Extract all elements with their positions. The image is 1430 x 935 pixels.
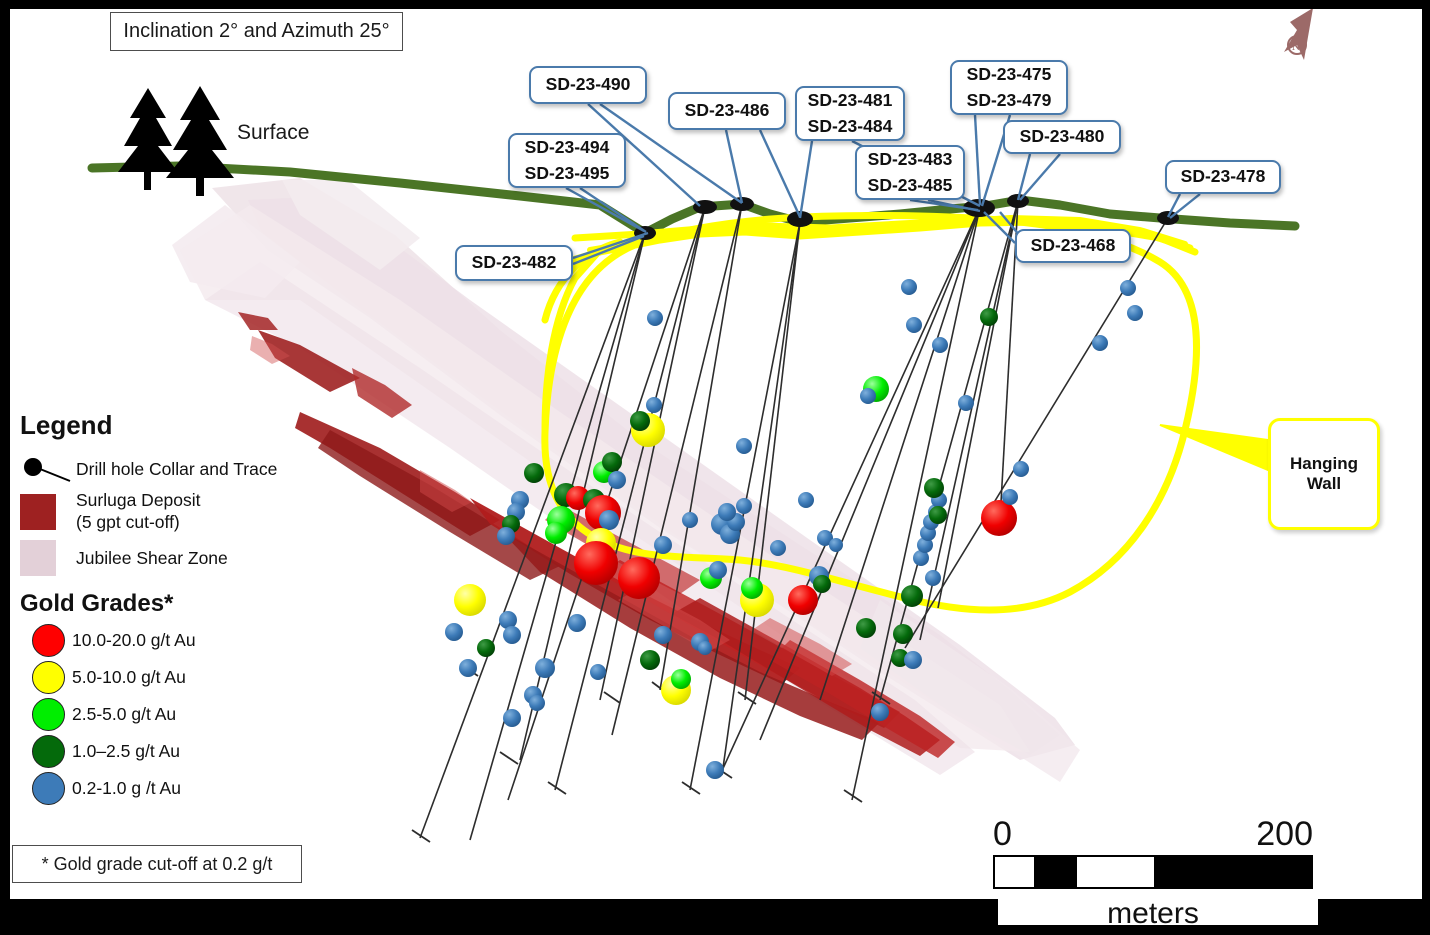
scale-bar-numbers: 0 200 <box>993 815 1313 853</box>
legend-label-surluga-deposit: Surluga Deposit(5 gpt cut-off) <box>76 490 201 533</box>
north-arrow-icon: N <box>1284 8 1313 60</box>
legend-label-surluga-deposit-line-1: Surluga Deposit <box>76 490 201 512</box>
figure-canvas: Surface <box>0 0 1430 935</box>
callout-sd-23-468-line-1: SD-23-468 <box>1031 234 1116 257</box>
callout-sd-23-478-line-1: SD-23-478 <box>1181 165 1266 188</box>
grade-swatch-4 <box>32 772 65 805</box>
callout-sd-23-494-495: SD-23-494SD-23-495 <box>508 133 626 188</box>
surluga-deposit-swatch <box>20 494 76 530</box>
hanging-wall-line2: Wall <box>1307 474 1341 494</box>
callout-sd-23-494-495-line-1: SD-23-494 <box>525 135 610 160</box>
frame-bar-right <box>1422 9 1430 899</box>
legend-label-drill-collar: Drill hole Collar and Trace <box>76 459 277 481</box>
callout-sd-23-475-479-line-1: SD-23-475 <box>967 62 1052 87</box>
frame-bar-left <box>0 9 10 899</box>
tree-icons <box>118 86 234 196</box>
legend-title: Legend <box>20 410 350 441</box>
callout-sd-23-480: SD-23-480 <box>1003 120 1121 154</box>
legend-item-surluga-deposit: Surluga Deposit(5 gpt cut-off) <box>20 490 350 533</box>
jubilee-shear-swatch <box>20 540 76 576</box>
callout-sd-23-475-479: SD-23-475SD-23-479 <box>950 60 1068 115</box>
grade-swatch-0 <box>32 624 65 657</box>
callout-sd-23-481-484-line-2: SD-23-484 <box>808 114 893 139</box>
callout-sd-23-490-line-1: SD-23-490 <box>546 73 631 96</box>
drill-collar-trace-icon <box>20 457 76 483</box>
legend-label-surluga-deposit-line-2: (5 gpt cut-off) <box>76 512 201 534</box>
hanging-wall-line1: Hanging <box>1290 454 1358 474</box>
grade-swatch-1 <box>32 661 65 694</box>
scale-bar: 0 200 meters <box>993 815 1313 931</box>
grade-row-0: 10.0-20.0 g/t Au <box>20 624 350 657</box>
grade-row-3: 1.0–2.5 g/t Au <box>20 735 350 768</box>
callout-sd-23-483-485-line-2: SD-23-485 <box>868 173 953 198</box>
callout-sd-23-478: SD-23-478 <box>1165 160 1281 194</box>
grade-label-0: 10.0-20.0 g/t Au <box>72 630 196 651</box>
callout-sd-23-475-479-line-2: SD-23-479 <box>967 88 1052 113</box>
scale-segment-2 <box>1075 857 1155 887</box>
hanging-wall-leader <box>1160 425 1268 470</box>
frame-bar-top <box>0 0 1430 9</box>
grade-row-4: 0.2-1.0 g /t Au <box>20 772 350 805</box>
scale-max-label: 200 <box>1256 815 1313 854</box>
grade-row-2: 2.5-5.0 g/t Au <box>20 698 350 731</box>
hanging-wall-outline <box>545 215 1197 610</box>
gold-grades-list: 10.0-20.0 g/t Au5.0-10.0 g/t Au2.5-5.0 g… <box>20 624 350 805</box>
callout-sd-23-481-484-line-1: SD-23-481 <box>808 88 893 113</box>
callout-sd-23-468: SD-23-468 <box>1015 229 1131 263</box>
inclination-note-box: Inclination 2° and Azimuth 25° <box>110 12 403 51</box>
scale-segment-1 <box>1034 857 1075 887</box>
scale-segment-0 <box>995 857 1034 887</box>
legend-label-jubilee-shear: Jubilee Shear Zone <box>76 548 228 570</box>
north-arrow-letter: N <box>1292 41 1300 53</box>
gold-grades-title: Gold Grades* <box>20 590 350 618</box>
grade-label-1: 5.0-10.0 g/t Au <box>72 667 186 688</box>
surface-line <box>92 166 1295 233</box>
scale-min-label: 0 <box>993 815 1012 854</box>
callout-sd-23-482-line-1: SD-23-482 <box>472 251 557 274</box>
hanging-wall-callout: Hanging Wall <box>1268 418 1380 530</box>
grade-label-3: 1.0–2.5 g/t Au <box>72 741 180 762</box>
callout-sd-23-483-485-line-1: SD-23-483 <box>868 147 953 172</box>
callout-sd-23-494-495-line-2: SD-23-495 <box>525 161 610 186</box>
frame-bar-bottom <box>0 925 1430 935</box>
scale-segment-3 <box>1154 857 1311 887</box>
callout-sd-23-480-line-1: SD-23-480 <box>1020 125 1105 148</box>
legend: Legend Drill hole Collar and Trace Surlu… <box>20 410 350 809</box>
surface-label: Surface <box>237 121 309 144</box>
grade-row-1: 5.0-10.0 g/t Au <box>20 661 350 694</box>
gold-cutoff-footnote: * Gold grade cut-off at 0.2 g/t <box>12 845 302 883</box>
callout-sd-23-483-485: SD-23-483SD-23-485 <box>855 145 965 200</box>
callout-sd-23-481-484: SD-23-481SD-23-484 <box>795 86 905 141</box>
scale-bar-graphic <box>993 855 1313 889</box>
callout-sd-23-490: SD-23-490 <box>529 66 647 104</box>
grade-swatch-3 <box>32 735 65 768</box>
grade-label-4: 0.2-1.0 g /t Au <box>72 778 181 799</box>
legend-item-drill-collar: Drill hole Collar and Trace <box>20 457 350 483</box>
drill-hole-traces <box>420 201 1168 840</box>
legend-item-jubilee-shear: Jubilee Shear Zone <box>20 540 350 576</box>
callout-sd-23-486-line-1: SD-23-486 <box>685 99 770 122</box>
callout-sd-23-486: SD-23-486 <box>668 92 786 130</box>
grade-label-2: 2.5-5.0 g/t Au <box>72 704 176 725</box>
trace-end-caps <box>412 665 890 842</box>
grade-swatch-2 <box>32 698 65 731</box>
grade-markers <box>445 279 1143 779</box>
callout-sd-23-482: SD-23-482 <box>455 245 573 281</box>
